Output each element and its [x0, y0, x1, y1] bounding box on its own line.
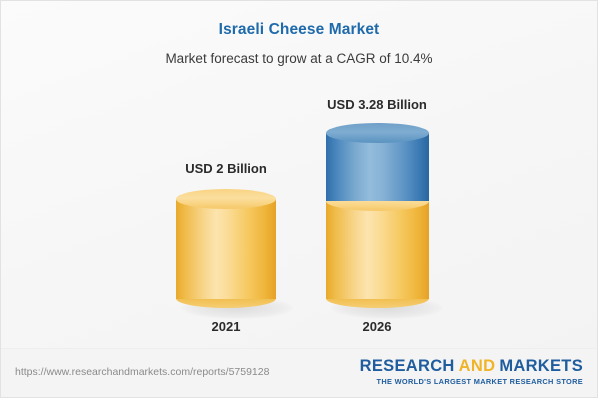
infographic-card: Israeli Cheese Market Market forecast to…: [0, 0, 598, 398]
bar-cylinder-2021: [176, 189, 276, 309]
bar-cylinder-2026: [326, 123, 429, 309]
cylinder-top-cap: [176, 189, 276, 209]
cylinder-body-base: [176, 199, 276, 299]
cylinder-segment-growth: [326, 133, 429, 201]
logo-word-and: AND: [459, 357, 496, 375]
chart-area: Israeli Cheese Market Market forecast to…: [1, 1, 597, 351]
source-url[interactable]: https://www.researchandmarkets.com/repor…: [15, 366, 269, 378]
bar-value-label-2021: USD 2 Billion: [126, 161, 326, 176]
bar-value-label-2026: USD 3.28 Billion: [277, 97, 477, 112]
page-subtitle: Market forecast to grow at a CAGR of 10.…: [1, 51, 597, 66]
cylinder-segment-base: [326, 201, 429, 299]
footer-bar: https://www.researchandmarkets.com/repor…: [1, 348, 597, 397]
logo-wordmark: RESEARCHANDMARKETS: [360, 357, 583, 375]
logo-tagline: THE WORLD'S LARGEST MARKET RESEARCH STOR…: [360, 377, 583, 386]
page-title: Israeli Cheese Market: [1, 21, 597, 39]
logo-word-markets: MARKETS: [499, 357, 583, 375]
cylinder-top-cap: [326, 123, 429, 143]
category-label-2026: 2026: [277, 319, 477, 334]
research-and-markets-logo[interactable]: RESEARCHANDMARKETS THE WORLD'S LARGEST M…: [360, 357, 583, 386]
logo-word-research: RESEARCH: [360, 357, 455, 375]
